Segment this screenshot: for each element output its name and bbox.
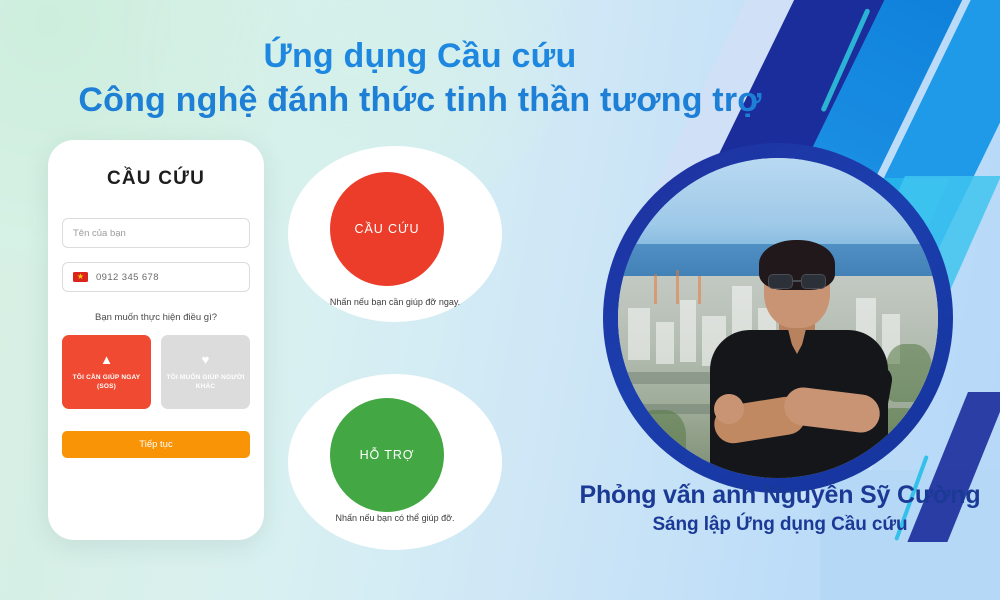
sos-circle-button[interactable]: CẦU CỨU [330,172,444,286]
photo-sky [618,158,938,254]
photo-tree [886,344,932,402]
headline: Ứng dụng Cầu cứu Công nghệ đánh thức tin… [0,36,840,120]
phone-input[interactable]: ★ 0912 345 678 [62,262,250,292]
phone-input-value: 0912 345 678 [96,272,159,283]
sos-choice-button[interactable]: ▲ TÔI CẦN GIÚP NGAY (SOS) [62,335,151,409]
name-input-placeholder: Tên của bạn [73,228,126,239]
headline-line-1: Ứng dụng Cầu cứu [0,36,840,76]
photo-building [628,308,650,360]
sunglasses-icon [768,274,826,289]
photo-building [680,300,696,362]
sos-caption: Nhấn nếu bạn cần giúp đỡ ngay. [265,297,525,307]
warning-triangle-icon: ▲ [100,353,113,366]
portrait-collar [768,330,826,360]
app-screen-title: CẦU CỨU [48,168,264,190]
photo-crane [654,274,657,304]
choice-group: ▲ TÔI CẦN GIÚP NGAY (SOS) ♥ TÔI MUỐN GIÚ… [62,335,250,409]
phone-app-mockup: CẦU CỨU Tên của bạn ★ 0912 345 678 Bạn m… [48,140,264,540]
action-prompt-label: Bạn muốn thực hiện điều gì? [48,312,264,323]
slide-canvas: Ứng dụng Cầu cứu Công nghệ đánh thức tin… [0,0,1000,600]
vietnam-flag-icon: ★ [73,272,88,282]
portrait-ring [603,143,953,493]
support-caption: Nhấn nếu bạn có thể giúp đỡ. [265,513,525,523]
portrait-photo [618,158,938,478]
photo-crane [698,276,701,304]
help-others-choice-button[interactable]: ♥ TÔI MUỐN GIÚP NGƯỜI KHÁC [161,335,250,409]
headline-line-2: Công nghệ đánh thức tinh thần tương trợ [0,80,840,120]
sos-choice-label: TÔI CẦN GIÚP NGAY (SOS) [67,373,146,392]
credit-block: Phỏng vấn anh Nguyễn Sỹ Cường Sáng lập Ứ… [540,480,1000,537]
photo-tree [634,410,686,472]
heart-icon: ♥ [202,353,210,366]
support-circle-button[interactable]: HỖ TRỢ [330,398,444,512]
photo-crane [676,270,679,304]
portrait-hand [714,394,744,424]
help-others-choice-label: TÔI MUỐN GIÚP NGƯỜI KHÁC [166,373,245,392]
photo-building [656,322,674,364]
continue-button[interactable]: Tiếp tục [62,431,250,458]
name-input[interactable]: Tên của bạn [62,218,250,248]
credit-role: Sáng lập Ứng dụng Cầu cứu [540,513,1000,537]
credit-name: Phỏng vấn anh Nguyễn Sỹ Cường [540,480,1000,510]
